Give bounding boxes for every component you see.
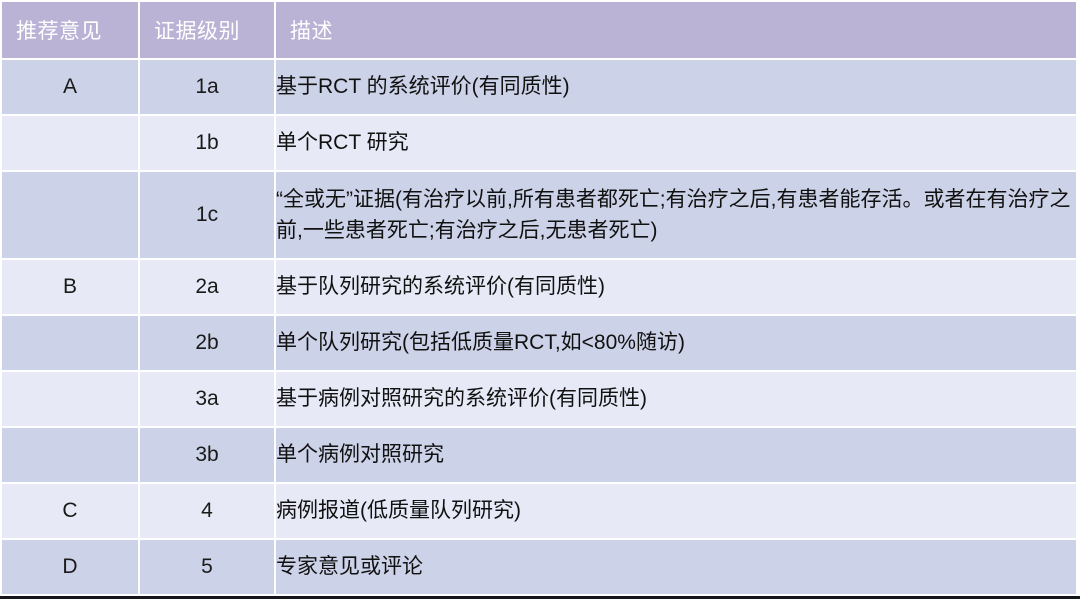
table-row: 1b 单个RCT 研究 — [2, 116, 1076, 170]
cell-evidence-level: 1b — [140, 116, 274, 170]
column-header-description: 描述 — [276, 2, 1076, 58]
cell-evidence-level: 3b — [140, 428, 274, 482]
evidence-level-table-container: 推荐意见 证据级别 描述 A 1a 基于RCT 的系统评价(有同质性) 1b 单… — [0, 0, 1080, 599]
table-row: B 2a 基于队列研究的系统评价(有同质性) — [2, 260, 1076, 314]
cell-evidence-level: 2a — [140, 260, 274, 314]
table-row: 3b 单个病例对照研究 — [2, 428, 1076, 482]
cell-recommendation — [2, 316, 138, 370]
cell-description: 单个队列研究(包括低质量RCT,如<80%随访) — [276, 316, 1076, 370]
cell-recommendation — [2, 116, 138, 170]
cell-recommendation — [2, 428, 138, 482]
cell-evidence-level: 5 — [140, 540, 274, 594]
cell-recommendation: A — [2, 60, 138, 114]
cell-description: 基于RCT 的系统评价(有同质性) — [276, 60, 1076, 114]
cell-description: 基于病例对照研究的系统评价(有同质性) — [276, 372, 1076, 426]
cell-recommendation — [2, 172, 138, 258]
cell-recommendation: C — [2, 484, 138, 538]
cell-description: 基于队列研究的系统评价(有同质性) — [276, 260, 1076, 314]
table-row: D 5 专家意见或评论 — [2, 540, 1076, 594]
cell-evidence-level: 4 — [140, 484, 274, 538]
cell-recommendation: D — [2, 540, 138, 594]
cell-description: 专家意见或评论 — [276, 540, 1076, 594]
table-header-row: 推荐意见 证据级别 描述 — [2, 2, 1076, 58]
cell-description: 单个RCT 研究 — [276, 116, 1076, 170]
table-row: 3a 基于病例对照研究的系统评价(有同质性) — [2, 372, 1076, 426]
cell-evidence-level: 3a — [140, 372, 274, 426]
cell-evidence-level: 2b — [140, 316, 274, 370]
column-header-recommendation: 推荐意见 — [2, 2, 138, 58]
evidence-level-table: 推荐意见 证据级别 描述 A 1a 基于RCT 的系统评价(有同质性) 1b 单… — [0, 0, 1078, 596]
cell-recommendation: B — [2, 260, 138, 314]
cell-evidence-level: 1a — [140, 60, 274, 114]
column-header-evidence-level: 证据级别 — [140, 2, 274, 58]
cell-recommendation — [2, 372, 138, 426]
table-row: A 1a 基于RCT 的系统评价(有同质性) — [2, 60, 1076, 114]
table-row: 2b 单个队列研究(包括低质量RCT,如<80%随访) — [2, 316, 1076, 370]
cell-evidence-level: 1c — [140, 172, 274, 258]
table-header: 推荐意见 证据级别 描述 — [2, 2, 1076, 58]
table-body: A 1a 基于RCT 的系统评价(有同质性) 1b 单个RCT 研究 1c “全… — [2, 60, 1076, 594]
table-row: C 4 病例报道(低质量队列研究) — [2, 484, 1076, 538]
cell-description: “全或无”证据(有治疗以前,所有患者都死亡;有治疗之后,有患者能存活。或者在有治… — [276, 172, 1076, 258]
table-row: 1c “全或无”证据(有治疗以前,所有患者都死亡;有治疗之后,有患者能存活。或者… — [2, 172, 1076, 258]
cell-description: 单个病例对照研究 — [276, 428, 1076, 482]
cell-description: 病例报道(低质量队列研究) — [276, 484, 1076, 538]
